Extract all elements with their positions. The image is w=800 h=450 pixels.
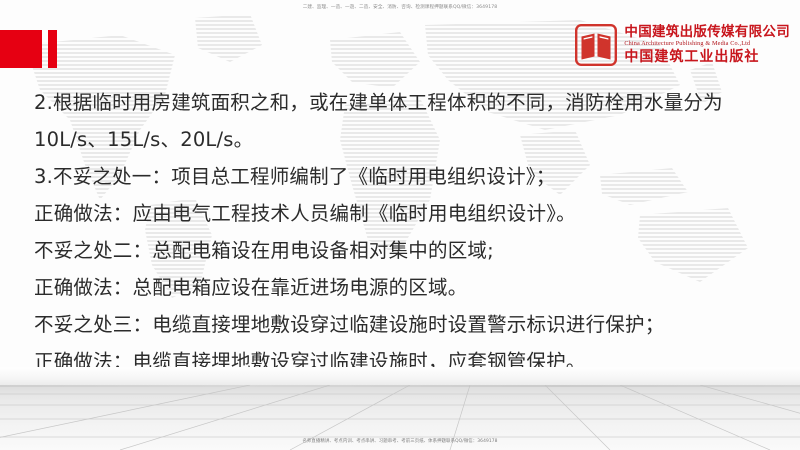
slide-body: 2.根据临时用房建筑面积之和，或在建单体工程体积的不同，消防栓用水量分为 10L… [34,84,774,380]
header-note: 二建、监理、一造、一遊、二造、安全、消防、咨询、检测课程押题联系QQ/微信：36… [0,4,800,10]
body-line: 2.根据临时用房建筑面积之和，或在建单体工程体积的不同，消防栓用水量分为 [34,84,774,121]
logo-company-cn: 中国建筑出版传媒有限公司 [624,26,790,40]
logo-text-group: 中国建筑出版传媒有限公司 China Architecture Publishi… [624,26,790,65]
body-line: 不妥之处二：总配电箱设在用电设备相对集中的区域; [34,232,774,269]
red-block-small [48,30,57,68]
body-line: 3.不妥之处一：项目总工程师编制了《临时用电组织设计》； [34,158,774,195]
footer-note: 名师直播精讲、考点内训、考点串讲、习题串考、考前三页纸、体系押题联系QQ/微信：… [0,438,800,444]
red-block-large [0,30,42,68]
body-line: 10L/s、15L/s、20L/s。 [34,121,774,158]
logo-company-en: China Architecture Publishing & Media Co… [624,41,790,47]
open-book-icon [575,24,617,66]
body-line: 不妥之处三：电缆直接埋地敷设穿过临建设施时设置警示标识进行保护； [34,306,774,343]
logo-imprint-cn: 中国建筑工业出版社 [624,50,790,64]
publisher-logo: 中国建筑出版传媒有限公司 China Architecture Publishi… [575,24,790,66]
body-line: 正确做法：应由电气工程技术人员编制《临时用电组织设计》。 [34,195,774,232]
floor-backwall [0,367,800,385]
body-line: 正确做法：总配电箱应设在靠近进场电源的区域。 [34,269,774,306]
slide-canvas: 二建、监理、一造、一遊、二造、安全、消防、咨询、检测课程押题联系QQ/微信：36… [0,0,800,450]
